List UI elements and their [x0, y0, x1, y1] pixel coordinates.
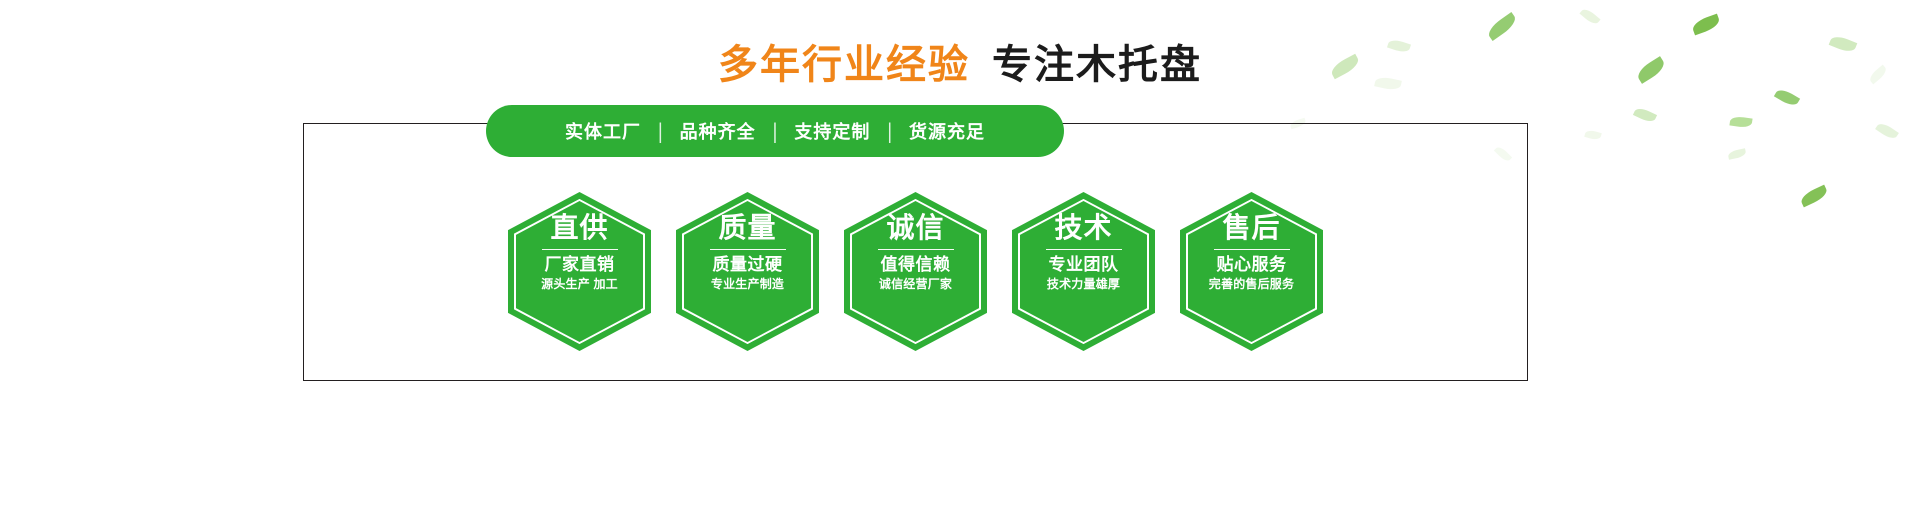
badge-content: 质量质量过硬专业生产制造: [676, 213, 819, 292]
pill-item-1[interactable]: 实体工厂: [548, 118, 658, 144]
page-title: 多年行业经验专注木托盘: [0, 32, 1920, 90]
leaf-icon: [1875, 121, 1899, 142]
leaf-icon: [1729, 116, 1752, 129]
badge-subtitle: 专业团队: [1049, 255, 1119, 275]
badge-1[interactable]: 直供厂家直销源头生产 加工: [508, 192, 651, 351]
badge-divider: [878, 249, 954, 250]
pill-item-4[interactable]: 货源充足: [892, 118, 1002, 144]
badge-divider: [1046, 249, 1122, 250]
badge-divider: [710, 249, 786, 250]
leaf-icon: [1579, 7, 1600, 27]
page-title-highlight: 多年行业经验: [718, 43, 970, 87]
page-title-rest: 专注木托盘: [992, 43, 1202, 87]
badge-caption: 完善的售后服务: [1209, 278, 1294, 292]
badge-divider: [1214, 249, 1290, 250]
pill-item-3[interactable]: 支持定制: [777, 118, 887, 144]
leaf-icon: [1727, 148, 1746, 160]
badge-caption: 诚信经营厂家: [879, 278, 952, 292]
badge-title: 直供: [550, 213, 608, 242]
pill-separator: |: [887, 118, 892, 144]
leaf-icon: [1799, 185, 1829, 208]
pill-item-2[interactable]: 品种齐全: [663, 118, 773, 144]
pill-separator: |: [773, 118, 778, 144]
badge-title: 质量: [718, 213, 776, 242]
pill-separator: |: [658, 118, 663, 144]
badge-caption: 源头生产 加工: [541, 278, 618, 292]
badge-row: 直供厂家直销源头生产 加工质量质量过硬专业生产制造诚信值得信赖诚信经营厂家技术专…: [303, 192, 1528, 352]
badge-caption: 技术力量雄厚: [1047, 278, 1120, 292]
badge-title: 技术: [1054, 213, 1112, 242]
feature-pill-bar: 实体工厂|品种齐全|支持定制|货源充足: [486, 105, 1064, 157]
badge-content: 诚信值得信赖诚信经营厂家: [844, 213, 987, 292]
badge-title: 诚信: [886, 213, 944, 242]
badge-2[interactable]: 质量质量过硬专业生产制造: [676, 192, 819, 351]
badge-3[interactable]: 诚信值得信赖诚信经营厂家: [844, 192, 987, 351]
badge-caption: 专业生产制造: [711, 278, 784, 292]
badge-subtitle: 值得信赖: [881, 255, 951, 275]
badge-content: 技术专业团队技术力量雄厚: [1012, 213, 1155, 292]
leaf-icon: [1633, 106, 1657, 124]
leaf-icon: [1584, 129, 1602, 141]
badge-subtitle: 质量过硬: [713, 255, 783, 275]
badge-subtitle: 贴心服务: [1217, 255, 1287, 275]
badge-5[interactable]: 售后贴心服务完善的售后服务: [1180, 192, 1323, 351]
badge-subtitle: 厂家直销: [545, 255, 615, 275]
badge-content: 售后贴心服务完善的售后服务: [1180, 213, 1323, 292]
badge-content: 直供厂家直销源头生产 加工: [508, 213, 651, 292]
badge-title: 售后: [1222, 213, 1280, 242]
badge-divider: [542, 249, 618, 250]
badge-4[interactable]: 技术专业团队技术力量雄厚: [1012, 192, 1155, 351]
